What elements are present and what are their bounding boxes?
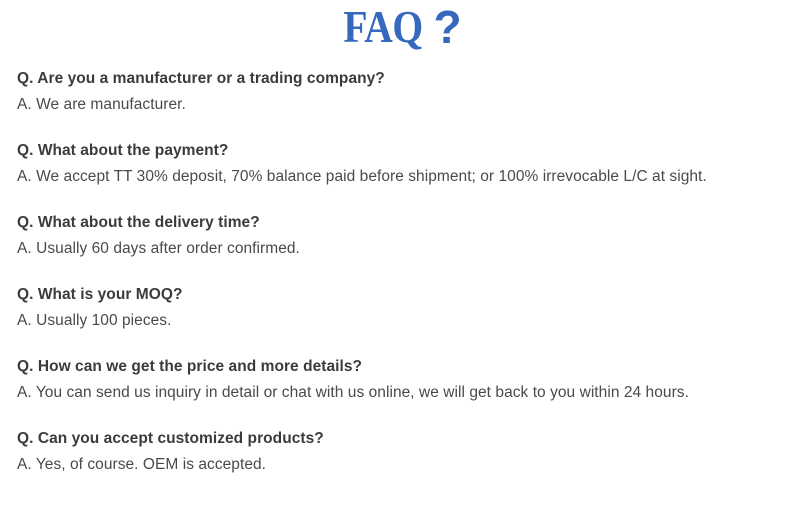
faq-answer: A. We accept TT 30% deposit, 70% balance… (17, 164, 792, 190)
faq-item: Q. What about the payment? A. We accept … (17, 138, 792, 190)
faq-item: Q. Are you a manufacturer or a trading c… (17, 66, 792, 118)
faq-page: FAQ? Q. Are you a manufacturer or a trad… (0, 0, 800, 525)
faq-list: Q. Are you a manufacturer or a trading c… (17, 66, 792, 478)
faq-question: Q. Are you a manufacturer or a trading c… (17, 66, 792, 92)
faq-question: Q. What is your MOQ? (17, 282, 792, 308)
faq-item: Q. Can you accept customized products? A… (17, 426, 792, 478)
faq-answer: A. Yes, of course. OEM is accepted. (17, 452, 792, 478)
faq-item: Q. What is your MOQ? A. Usually 100 piec… (17, 282, 792, 334)
faq-question: Q. Can you accept customized products? (17, 426, 792, 452)
page-title-text: FAQ (344, 2, 423, 52)
faq-answer: A. We are manufacturer. (17, 92, 792, 118)
faq-question: Q. How can we get the price and more det… (17, 354, 792, 380)
faq-question: Q. What about the payment? (17, 138, 792, 164)
question-mark-icon: ? (434, 2, 462, 52)
faq-answer: A. Usually 100 pieces. (17, 308, 792, 334)
faq-question: Q. What about the delivery time? (17, 210, 792, 236)
faq-answer: A. You can send us inquiry in detail or … (17, 380, 792, 406)
faq-item: Q. What about the delivery time? A. Usua… (17, 210, 792, 262)
page-title: FAQ? (0, 2, 800, 52)
faq-item: Q. How can we get the price and more det… (17, 354, 792, 406)
faq-answer: A. Usually 60 days after order confirmed… (17, 236, 792, 262)
